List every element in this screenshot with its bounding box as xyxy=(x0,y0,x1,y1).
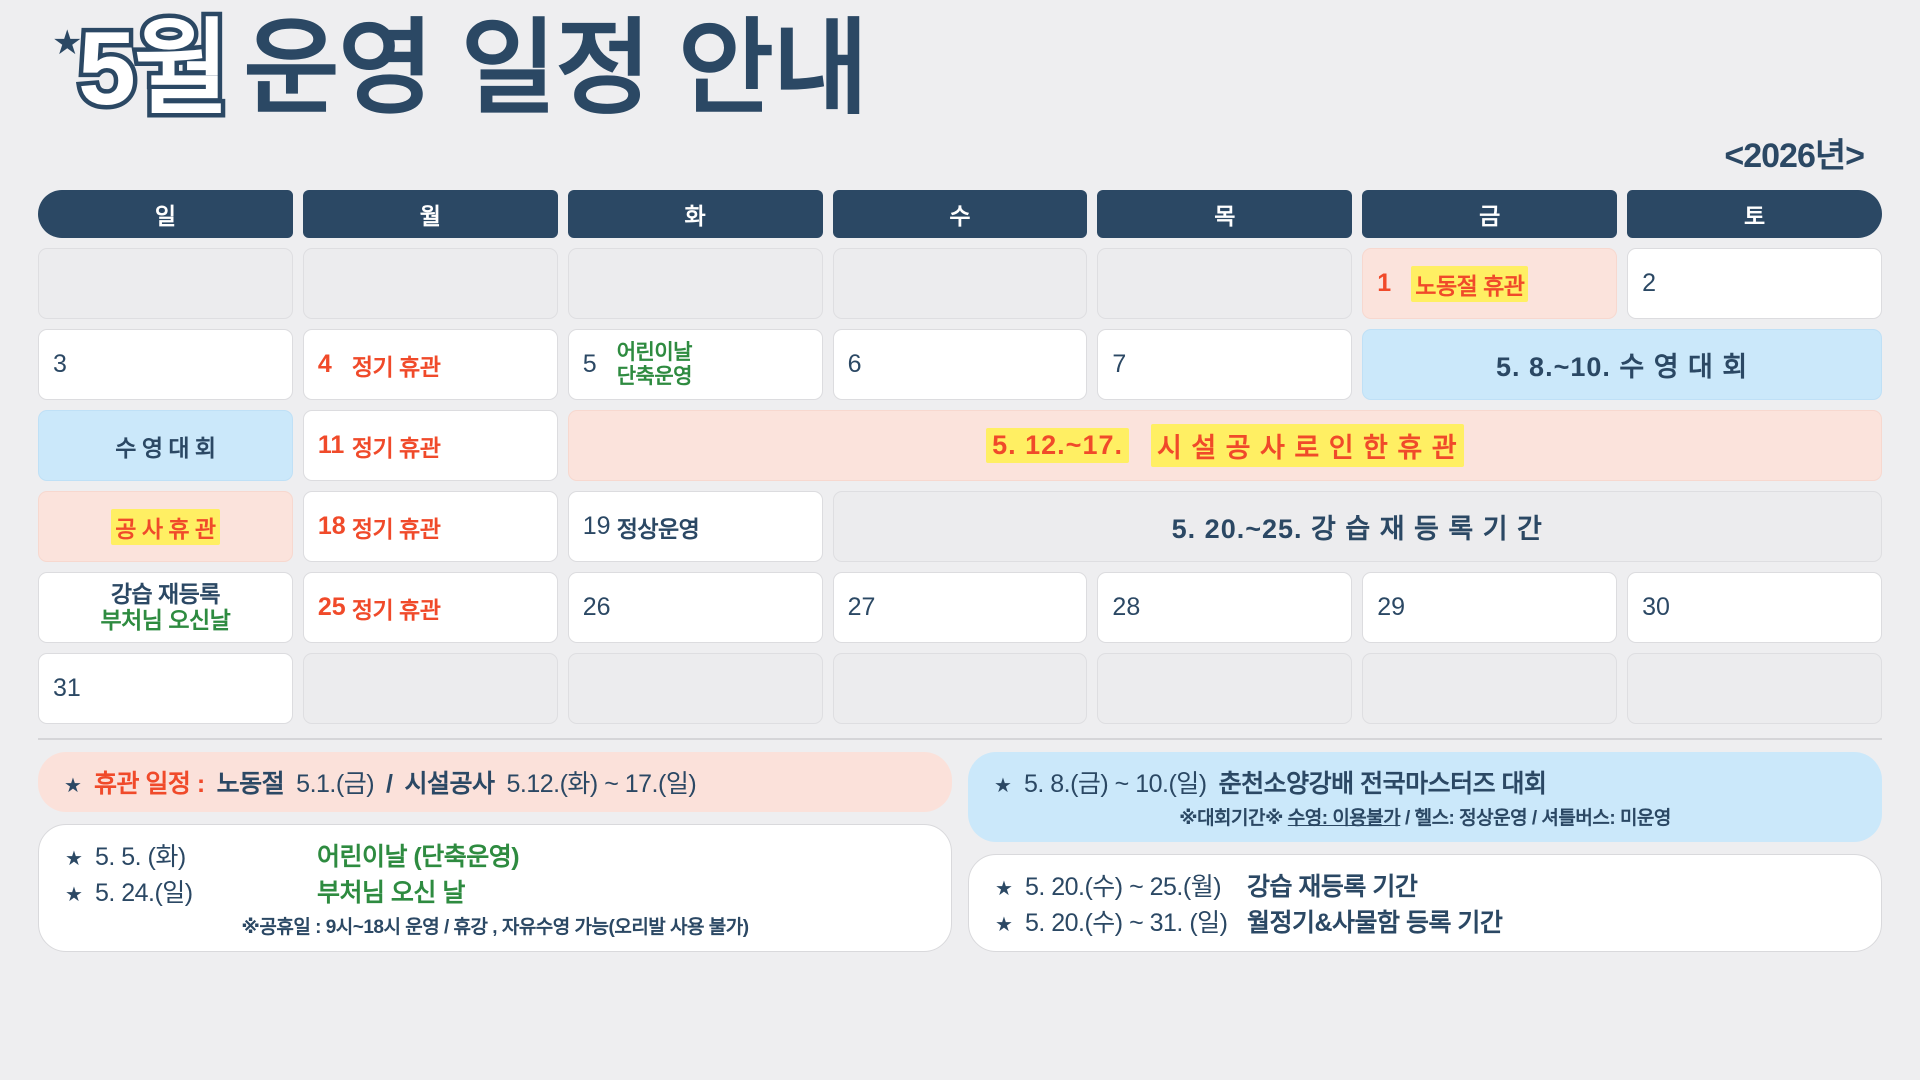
day-number: 4 xyxy=(318,350,352,379)
legend-right-column: ★ 5. 8.(금) ~ 10.(일) 춘천소양강배 전국마스터즈 대회 ※대회… xyxy=(968,752,1882,952)
footer-divider xyxy=(38,738,1882,740)
legend-section: ★ 휴관 일정 : 노동절 5.1.(금) / 시설공사 5.12.(화) ~ … xyxy=(38,752,1882,952)
day-number: 30 xyxy=(1642,593,1676,622)
day-number: 28 xyxy=(1112,593,1146,622)
day-cell-1[interactable]: 1 노동절 휴관 xyxy=(1362,248,1617,319)
weekday-fri: 금 xyxy=(1362,190,1617,238)
day-cell-11[interactable]: 11 정기 휴관 xyxy=(303,410,558,481)
weekday-header-row: 일 월 화 수 목 금 토 xyxy=(38,190,1882,238)
day-cell-3[interactable]: 3 xyxy=(38,329,293,400)
weekday-tue: 화 xyxy=(568,190,823,238)
calendar-week-5: 강습 재등록 부처님 오신날 25 정기 휴관 26 27 28 29 30 xyxy=(38,572,1882,643)
day-number: 26 xyxy=(583,593,617,622)
legend-registration-row-1: ★ 5. 20.(수) ~ 25.(월) 강습 재등록 기간 xyxy=(995,867,1855,903)
calendar-week-4: 공 사 휴 관 18 정기 휴관 19 정상운영 5. 20.~25. 강 습 … xyxy=(38,491,1882,562)
legend-holiday-1-name: 어린이날 (단축운영) xyxy=(317,837,519,873)
day-number: 11 xyxy=(318,431,352,460)
legend-holiday-row-2: ★ 5. 24.(일) 부처님 오신 날 xyxy=(65,873,925,909)
legend-holiday-2-date: 5. 24.(일) xyxy=(95,873,305,909)
day-cell-blank xyxy=(1627,653,1882,724)
title-month: 5월 xyxy=(78,8,228,131)
legend-holiday-row-1: ★ 5. 5. (화) 어린이날 (단축운영) xyxy=(65,837,925,873)
day-cell-17[interactable]: 공 사 휴 관 xyxy=(38,491,293,562)
day-number: 2 xyxy=(1642,269,1676,298)
legend-holiday-2-name: 부처님 오신 날 xyxy=(317,873,465,909)
day-note-line2: 단축운영 xyxy=(617,365,692,388)
day-cell-blank xyxy=(303,653,558,724)
event-span-reregistration[interactable]: 5. 20.~25. 강 습 재 등 록 기 간 xyxy=(833,491,1882,562)
day-cell-4[interactable]: 4 정기 휴관 xyxy=(303,329,558,400)
weekday-thu: 목 xyxy=(1097,190,1352,238)
event-label: 시 설 공 사 로 인 한 휴 관 xyxy=(1151,424,1464,467)
day-cell-28[interactable]: 28 xyxy=(1097,572,1352,643)
legend-registration-1-date: 5. 20.(수) ~ 25.(월) xyxy=(1025,867,1235,903)
legend-registration-2-date: 5. 20.(수) ~ 31. (일) xyxy=(1025,903,1235,939)
year-label: <2026년> xyxy=(1724,128,1864,177)
calendar-week-3: 수 영 대 회 11 정기 휴관 5. 12.~17. 시 설 공 사 로 인 … xyxy=(38,410,1882,481)
legend-registration-row-2: ★ 5. 20.(수) ~ 31. (일) 월정기&사물함 등록 기간 xyxy=(995,903,1855,939)
day-cell-blank xyxy=(1362,653,1617,724)
poster-header: ★ 5월 운영 일정 안내 <2026년> xyxy=(38,0,1882,190)
star-icon: ★ xyxy=(995,912,1013,937)
legend-registration-1-name: 강습 재등록 기간 xyxy=(1247,867,1417,903)
legend-competition-name: 춘천소양강배 전국마스터즈 대회 xyxy=(1219,764,1547,800)
day-cell-19[interactable]: 19 정상운영 xyxy=(568,491,823,562)
day-cell-blank xyxy=(833,248,1088,319)
day-cell-29[interactable]: 29 xyxy=(1362,572,1617,643)
day-cell-blank xyxy=(1097,653,1352,724)
legend-competition-note-rest: / 헬스: 정상운영 / 셔틀버스: 미운영 xyxy=(1405,808,1671,829)
legend-closure-item2-name: 시설공사 xyxy=(404,764,494,800)
day-number: 5 xyxy=(583,350,617,379)
day-note: 강습 재등록 부처님 오신날 xyxy=(100,582,230,634)
day-note: 공 사 휴 관 xyxy=(111,509,219,545)
day-cell-10[interactable]: 수 영 대 회 xyxy=(38,410,293,481)
day-note-line1: 강습 재등록 xyxy=(111,581,220,607)
legend-competition-row: ★ 5. 8.(금) ~ 10.(일) 춘천소양강배 전국마스터즈 대회 xyxy=(994,764,1856,800)
calendar-grid: 1 노동절 휴관 2 3 4 정기 휴관 5 어린이날 단축운영 xyxy=(38,248,1882,724)
event-label: 5. 8.~10. 수 영 대 회 xyxy=(1496,345,1748,384)
legend-holiday-footnote: ※공휴일 : 9시~18시 운영 / 휴강 , 자유수영 가능(오리발 사용 불… xyxy=(65,912,925,939)
day-cell-6[interactable]: 6 xyxy=(833,329,1088,400)
weekday-sat: 토 xyxy=(1627,190,1882,238)
legend-closure-label: 휴관 일정 : xyxy=(94,764,205,800)
day-cell-25[interactable]: 25 정기 휴관 xyxy=(303,572,558,643)
event-span-swim-meet[interactable]: 5. 8.~10. 수 영 대 회 xyxy=(1362,329,1882,400)
day-cell-30[interactable]: 30 xyxy=(1627,572,1882,643)
weekday-wed: 수 xyxy=(833,190,1088,238)
day-number: 3 xyxy=(53,350,87,379)
legend-competition-box: ★ 5. 8.(금) ~ 10.(일) 춘천소양강배 전국마스터즈 대회 ※대회… xyxy=(968,752,1882,842)
day-cell-blank xyxy=(38,248,293,319)
legend-competition-note-underline: 수영: 이용불가 xyxy=(1288,808,1401,829)
calendar-week-1: 1 노동절 휴관 2 xyxy=(38,248,1882,319)
day-cell-5[interactable]: 5 어린이날 단축운영 xyxy=(568,329,823,400)
day-note-line1: 어린이날 xyxy=(617,341,692,364)
day-cell-2[interactable]: 2 xyxy=(1627,248,1882,319)
day-cell-blank xyxy=(1097,248,1352,319)
legend-registration-box: ★ 5. 20.(수) ~ 25.(월) 강습 재등록 기간 ★ 5. 20.(… xyxy=(968,854,1882,952)
star-icon: ★ xyxy=(995,876,1013,901)
day-number: 7 xyxy=(1112,350,1146,379)
legend-closure-item1-name: 노동절 xyxy=(217,764,285,800)
legend-competition-note: ※대회기간※ 수영: 이용불가 / 헬스: 정상운영 / 셔틀버스: 미운영 xyxy=(994,803,1856,830)
day-note: 정기 휴관 xyxy=(352,429,441,463)
legend-competition-date: 5. 8.(금) ~ 10.(일) xyxy=(1024,764,1207,800)
page-title: 5월 운영 일정 안내 xyxy=(78,8,867,131)
legend-closure-row: ★ 휴관 일정 : 노동절 5.1.(금) / 시설공사 5.12.(화) ~ … xyxy=(64,764,926,800)
day-number: 19 xyxy=(583,512,617,541)
day-number: 1 xyxy=(1377,269,1411,298)
day-cell-24[interactable]: 강습 재등록 부처님 오신날 xyxy=(38,572,293,643)
day-note: 노동절 휴관 xyxy=(1411,266,1528,302)
day-cell-18[interactable]: 18 정기 휴관 xyxy=(303,491,558,562)
day-note: 어린이날 단축운영 xyxy=(617,341,692,388)
calendar-poster: ★ 5월 운영 일정 안내 <2026년> 일 월 화 수 목 금 토 1 노동… xyxy=(0,0,1920,1080)
legend-competition-note-prefix: ※대회기간※ xyxy=(1179,808,1283,829)
day-number: 18 xyxy=(318,512,352,541)
legend-closure-item2-date: 5.12.(화) ~ 17.(일) xyxy=(507,764,697,800)
weekday-mon: 월 xyxy=(303,190,558,238)
day-number: 25 xyxy=(318,593,352,622)
day-cell-26[interactable]: 26 xyxy=(568,572,823,643)
legend-holidays-box: ★ 5. 5. (화) 어린이날 (단축운영) ★ 5. 24.(일) 부처님 … xyxy=(38,824,952,952)
legend-closure-separator: / xyxy=(386,770,392,799)
day-number: 6 xyxy=(848,350,882,379)
legend-registration-2-name: 월정기&사물함 등록 기간 xyxy=(1247,903,1502,939)
event-label: 5. 20.~25. 강 습 재 등 록 기 간 xyxy=(1172,507,1543,546)
day-cell-blank xyxy=(568,248,823,319)
weekday-sun: 일 xyxy=(38,190,293,238)
legend-closure-box: ★ 휴관 일정 : 노동절 5.1.(금) / 시설공사 5.12.(화) ~ … xyxy=(38,752,952,812)
event-span-facility-closure[interactable]: 5. 12.~17. 시 설 공 사 로 인 한 휴 관 xyxy=(568,410,1882,481)
day-note-line2: 부처님 오신날 xyxy=(100,607,230,633)
star-icon: ★ xyxy=(65,846,83,871)
star-icon: ★ xyxy=(64,773,82,798)
title-text: 운영 일정 안내 xyxy=(244,8,868,131)
day-cell-31[interactable]: 31 xyxy=(38,653,293,724)
day-note: 정기 휴관 xyxy=(352,510,441,544)
day-cell-blank xyxy=(568,653,823,724)
day-note: 정기 휴관 xyxy=(352,591,441,625)
legend-closure-item1-date: 5.1.(금) xyxy=(296,764,374,800)
day-cell-7[interactable]: 7 xyxy=(1097,329,1352,400)
calendar-week-6: 31 xyxy=(38,653,1882,724)
day-cell-blank xyxy=(833,653,1088,724)
day-cell-blank xyxy=(303,248,558,319)
event-date: 5. 12.~17. xyxy=(986,428,1129,463)
day-note: 수 영 대 회 xyxy=(115,429,215,463)
day-cell-27[interactable]: 27 xyxy=(833,572,1088,643)
calendar-week-2: 3 4 정기 휴관 5 어린이날 단축운영 6 7 5. 8.~10. 수 영 … xyxy=(38,329,1882,400)
day-number: 27 xyxy=(848,593,882,622)
legend-holiday-1-date: 5. 5. (화) xyxy=(95,837,305,873)
day-number: 31 xyxy=(53,674,87,703)
legend-left-column: ★ 휴관 일정 : 노동절 5.1.(금) / 시설공사 5.12.(화) ~ … xyxy=(38,752,952,952)
day-number: 29 xyxy=(1377,593,1411,622)
star-icon: ★ xyxy=(994,773,1012,798)
day-note: 정기 휴관 xyxy=(352,348,441,382)
day-note: 정상운영 xyxy=(617,510,700,544)
star-icon: ★ xyxy=(65,882,83,907)
